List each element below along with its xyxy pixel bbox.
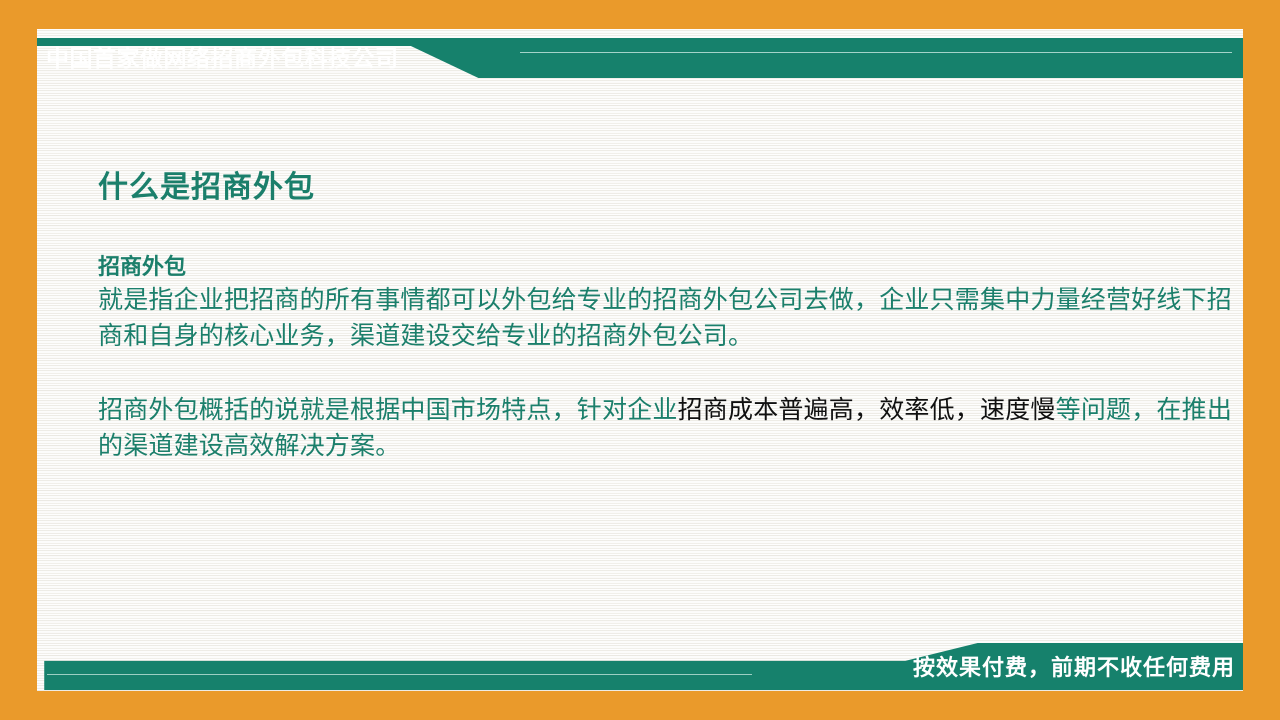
top-banner-hairline <box>520 52 1232 53</box>
paragraph-summary: 招商外包概括的说就是根据中国市场特点，针对企业招商成本普遍高，效率低，速度慢等问… <box>98 392 1233 464</box>
top-banner-title: 中国首家做网络招商外包科技公司 <box>46 40 399 76</box>
bottom-banner-text: 按效果付费，前期不收任何费用 <box>913 651 1235 684</box>
section-subheading: 招商外包 <box>98 252 1233 282</box>
paragraph-summary-highlight: 招商成本普遍高，效率低，速度慢 <box>678 396 1056 424</box>
paragraph-summary-lead: 招商外包概括的说就是根据中国市场特点，针对企业 <box>98 396 678 424</box>
page-title: 什么是招商外包 <box>98 170 1233 206</box>
bottom-banner-hairline <box>47 674 752 675</box>
slide-canvas: 中国首家做网络招商外包科技公司 什么是招商外包 招商外包 就是指企业把招商的所有… <box>0 0 1280 720</box>
paragraph-definition: 就是指企业把招商的所有事情都可以外包给专业的招商外包公司去做，企业只需集中力量经… <box>98 282 1233 354</box>
slide-content: 什么是招商外包 招商外包 就是指企业把招商的所有事情都可以外包给专业的招商外包公… <box>98 170 1233 464</box>
